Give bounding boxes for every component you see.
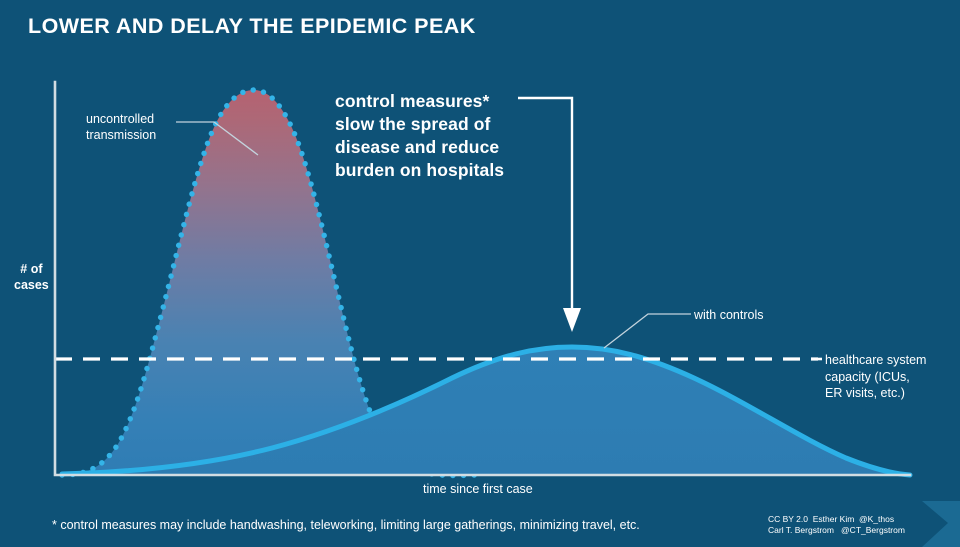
page-title: LOWER AND DELAY THE EPIDEMIC PEAK: [28, 14, 476, 39]
y-axis-label: # of cases: [14, 261, 49, 294]
label-healthcare-capacity: healthcare system capacity (ICUs, ER vis…: [825, 352, 926, 402]
footnote-text: * control measures may include handwashi…: [52, 518, 640, 533]
with-controls-leader-line: [604, 314, 691, 348]
annotation-arrow: [518, 98, 581, 332]
label-with-controls: with controls: [694, 308, 763, 323]
label-uncontrolled-transmission: uncontrolled transmission: [86, 111, 156, 144]
epidemic-curve-poster: LOWER AND DELAY THE EPIDEMIC PEAK contro…: [0, 0, 960, 547]
epidemic-chart: [0, 0, 960, 547]
x-axis-label: time since first case: [423, 482, 533, 497]
credits-text: CC BY 2.0 Esther Kim @K_thos Carl T. Ber…: [768, 514, 905, 537]
control-measures-annotation: control measures* slow the spread of dis…: [335, 90, 504, 182]
corner-chevron-icon: [922, 501, 960, 547]
